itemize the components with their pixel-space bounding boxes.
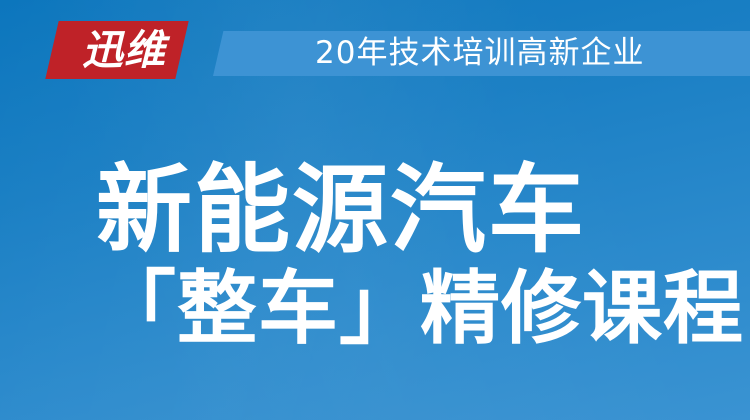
poster-canvas: 20年技术培训高新企业 迅维 新能源汽车 「整车」精修课程 (0, 0, 750, 420)
brand-logo-text: 迅维 (58, 20, 190, 80)
banner-tagline: 20年技术培训高新企业 (315, 30, 735, 76)
headline-block: 新能源汽车 「整车」精修课程 (96, 158, 696, 354)
headline-line-1: 新能源汽车 (96, 158, 696, 262)
top-banner: 20年技术培训高新企业 迅维 (0, 0, 750, 108)
headline-line-2: 「整车」精修课程 (96, 264, 696, 354)
